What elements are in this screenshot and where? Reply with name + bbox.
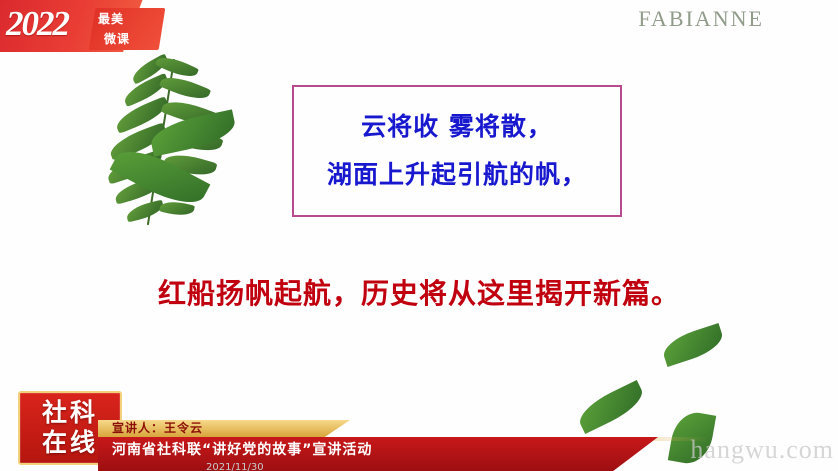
plaque-line-2: 在线 <box>42 428 98 458</box>
fabianne-watermark: FABIANNE <box>638 6 764 32</box>
banner-speaker-label: 宣讲人：王令云 <box>112 419 203 436</box>
banner-title-label: 河南省社科联“讲好党的故事”宣讲活动 <box>112 439 372 459</box>
slide-screenshot: 2022 最美 微课 FABIANNE 云将收 雾将散， 湖面上升起引航的帆， … <box>0 0 838 471</box>
badge-subtitle-line2: 微课 <box>98 29 160 49</box>
poem-line-1: 云将收 雾将散， <box>294 107 620 143</box>
poem-line-2: 湖面上升起引航的帆， <box>294 155 620 191</box>
badge-2022: 2022 最美 微课 <box>0 0 168 62</box>
headline-text: 红船扬帆起航，历史将从这里揭开新篇。 <box>0 272 838 312</box>
bottom-banner: 宣讲人：王令云 河南省社科联“讲好党的故事”宣讲活动 2021/11/30 <box>98 413 838 471</box>
banner-date-label: 2021/11/30 <box>206 462 264 471</box>
badge-year-label: 2022 <box>6 4 68 44</box>
poem-box: 云将收 雾将散， 湖面上升起引航的帆， <box>292 85 622 217</box>
plaque-line-1: 社科 <box>42 398 98 428</box>
badge-subtitle-line1: 最美 <box>98 12 124 26</box>
badge-subtitle: 最美 微课 <box>98 9 160 49</box>
